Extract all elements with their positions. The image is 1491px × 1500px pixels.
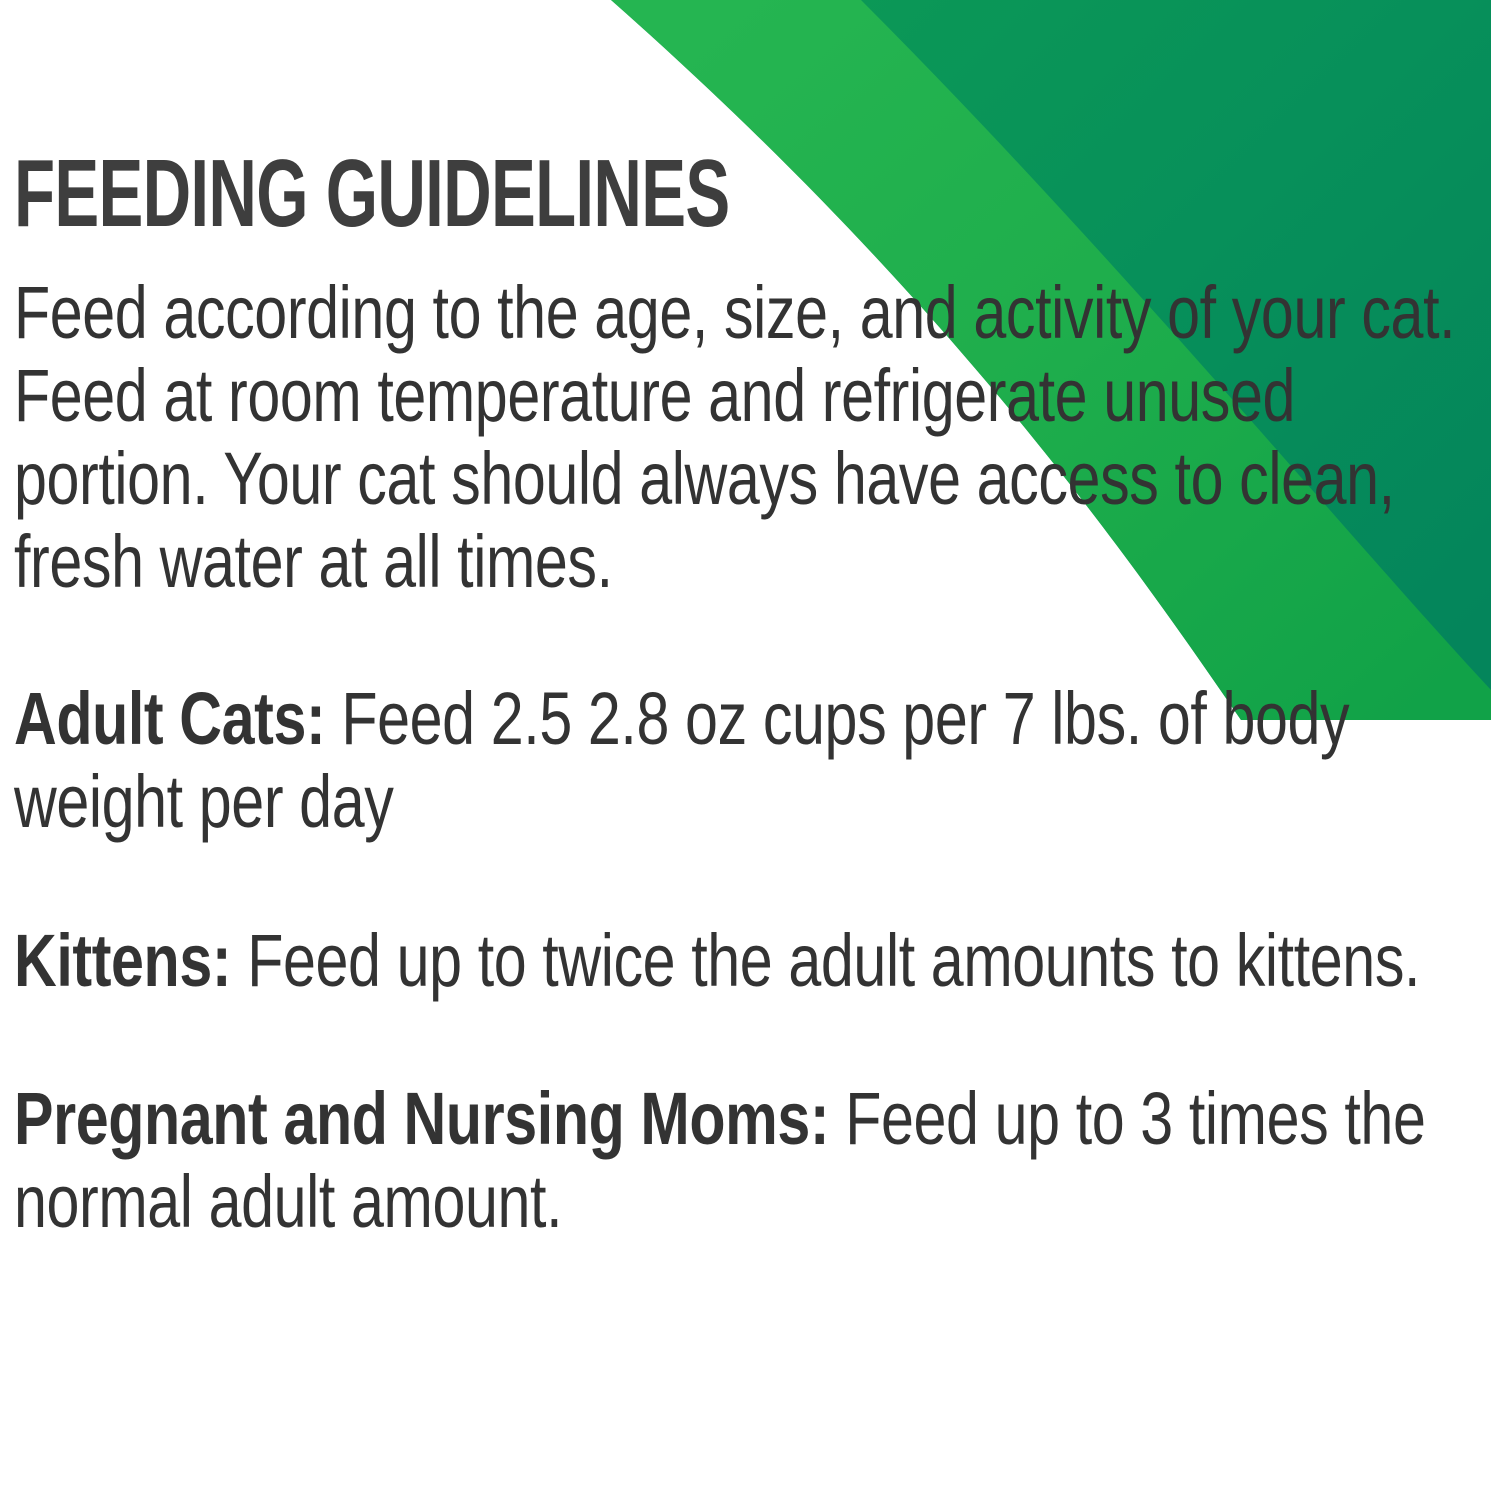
page-title: FEEDING GUIDELINES xyxy=(14,150,1035,238)
feeding-guidelines-panel: FEEDING GUIDELINES Feed according to the… xyxy=(0,0,1491,1244)
intro-text: Feed according to the age, size, and act… xyxy=(14,272,1473,604)
moms-text-wrap: Pregnant and Nursing Moms: Feed up to 3 … xyxy=(14,1078,1473,1244)
kittens-lead: Kittens: xyxy=(14,919,231,1002)
adult-cats-lead: Adult Cats: xyxy=(14,677,325,760)
kittens-paragraph: Kittens: Feed up to twice the adult amou… xyxy=(14,920,1473,1003)
moms-lead: Pregnant and Nursing Moms: xyxy=(14,1077,829,1160)
intro-paragraph: Feed according to the age, size, and act… xyxy=(14,272,1473,604)
adult-cats-text-wrap: Adult Cats: Feed 2.5 2.8 oz cups per 7 l… xyxy=(14,678,1473,844)
pregnant-nursing-moms-paragraph: Pregnant and Nursing Moms: Feed up to 3 … xyxy=(14,1078,1473,1244)
kittens-detail: Feed up to twice the adult amounts to ki… xyxy=(231,919,1420,1002)
kittens-text-wrap: Kittens: Feed up to twice the adult amou… xyxy=(14,920,1473,1003)
adult-cats-paragraph: Adult Cats: Feed 2.5 2.8 oz cups per 7 l… xyxy=(14,678,1473,844)
